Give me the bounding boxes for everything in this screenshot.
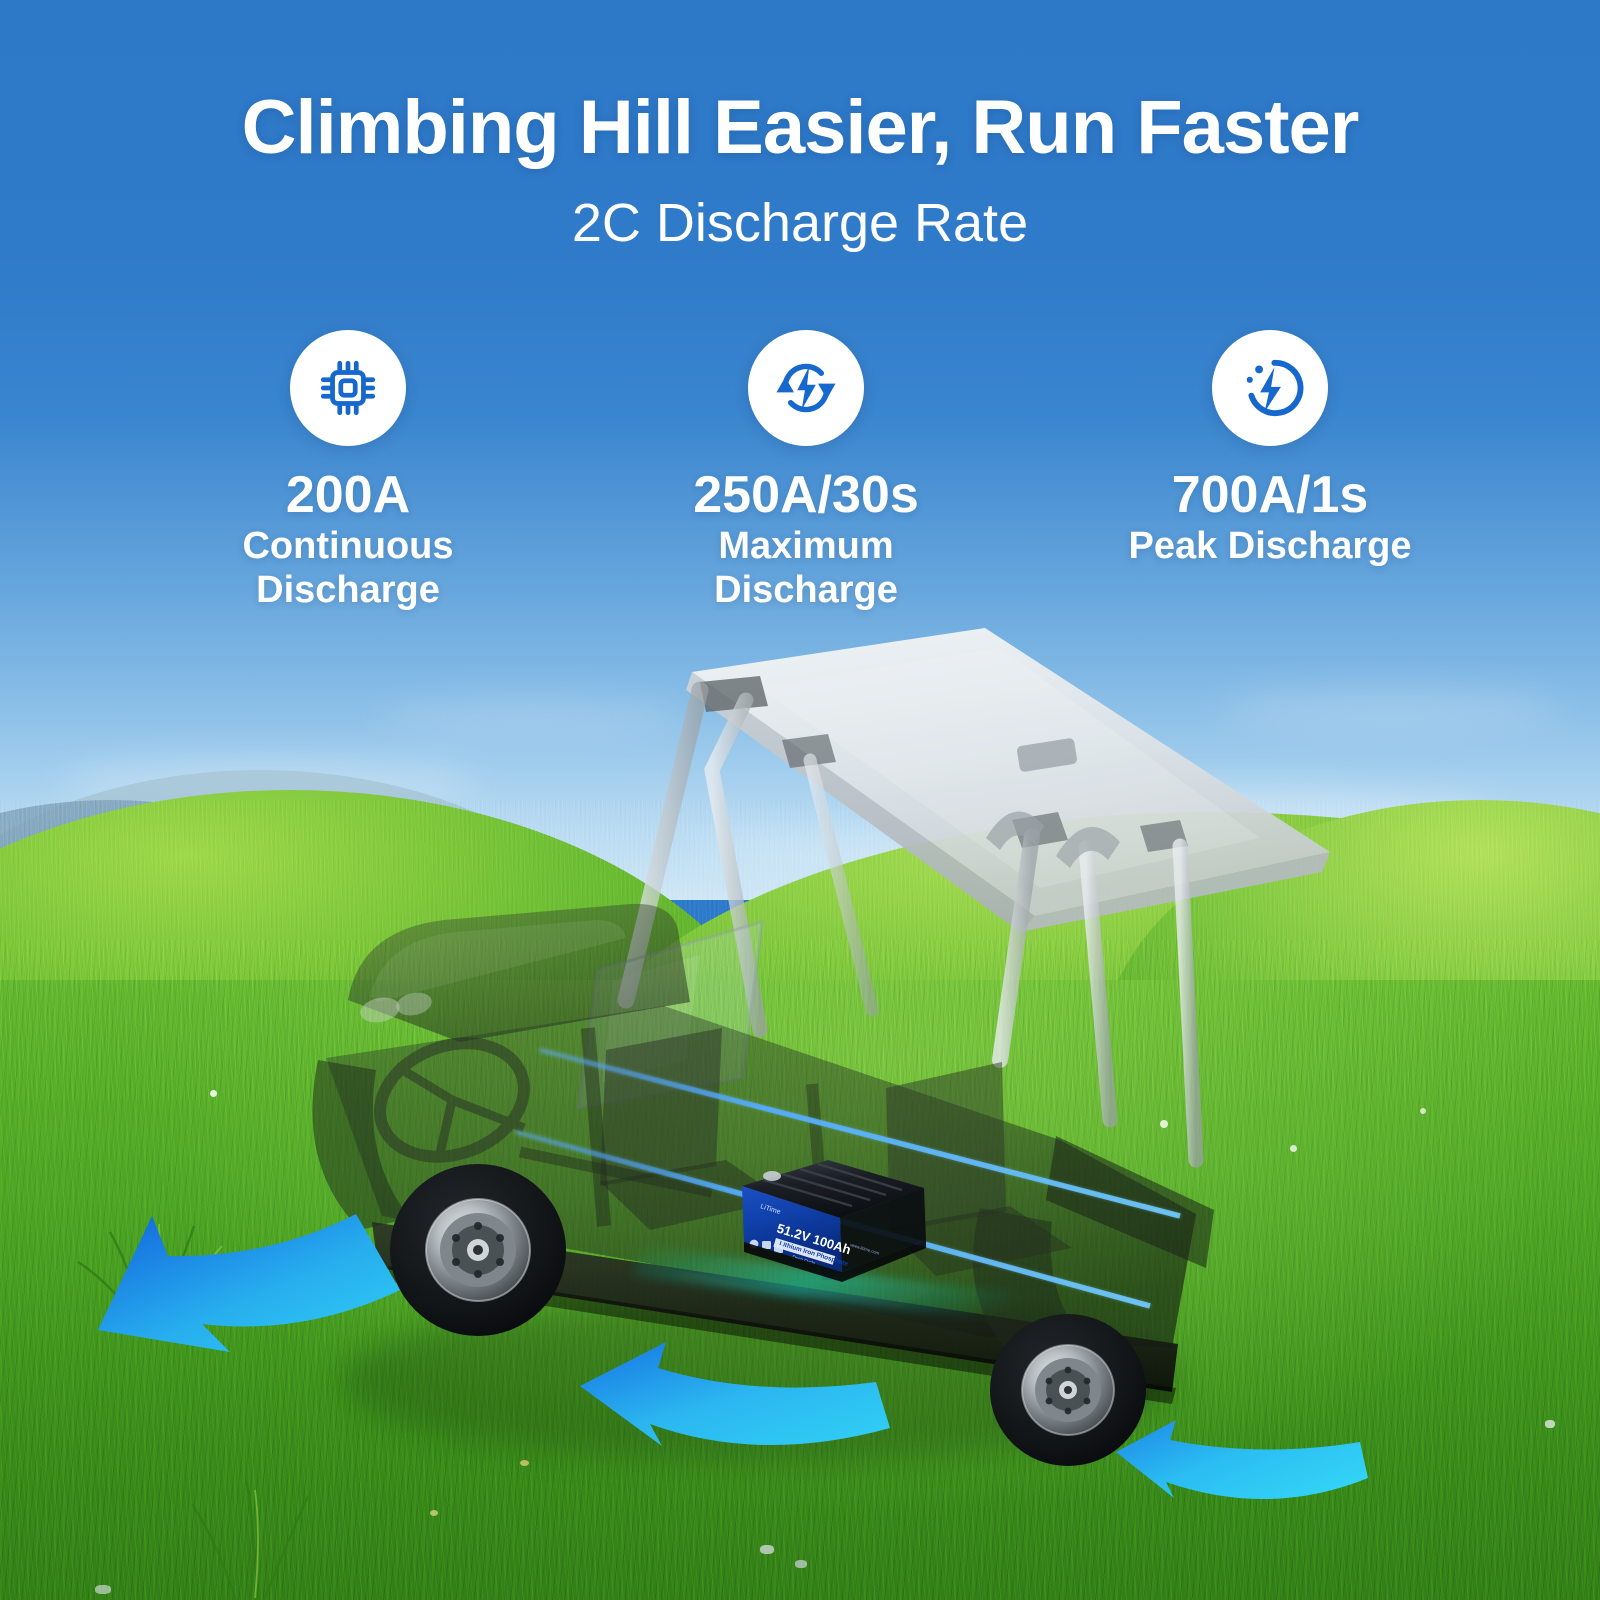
stat-icon-badge [1212, 330, 1328, 446]
stat-value: 200A [153, 468, 543, 523]
motion-arrow-medium [580, 1342, 890, 1446]
stats-row: 200A Continuous Discharge 250A/30s Maxim… [0, 330, 1600, 612]
stat-peak-discharge: 700A/1s Peak Discharge [1075, 330, 1465, 567]
page-subtitle: 2C Discharge Rate [0, 192, 1600, 254]
page-title: Climbing Hill Easier, Run Faster [0, 88, 1600, 168]
motion-arrow-large [98, 1214, 400, 1352]
stat-desc-line1: Maximum [611, 525, 1001, 568]
stat-value: 700A/1s [1075, 468, 1465, 523]
stat-icon-badge [290, 330, 406, 446]
cpu-chip-icon [315, 355, 381, 421]
header-block: Climbing Hill Easier, Run Faster 2C Disc… [0, 0, 1600, 254]
stat-maximum-discharge: 250A/30s Maximum Discharge [611, 330, 1001, 612]
stat-desc-line2: Discharge [153, 569, 543, 612]
stat-desc-line1: Peak Discharge [1075, 525, 1465, 568]
refresh-bolt-icon [771, 353, 841, 423]
stat-desc-line1: Continuous [153, 525, 543, 568]
circle-bolt-icon [1235, 353, 1305, 423]
motion-arrow-small [1116, 1420, 1368, 1499]
stat-value: 250A/30s [611, 468, 1001, 523]
stat-icon-badge [748, 330, 864, 446]
stat-desc-line2: Discharge [611, 569, 1001, 612]
stat-continuous-discharge: 200A Continuous Discharge [153, 330, 543, 612]
